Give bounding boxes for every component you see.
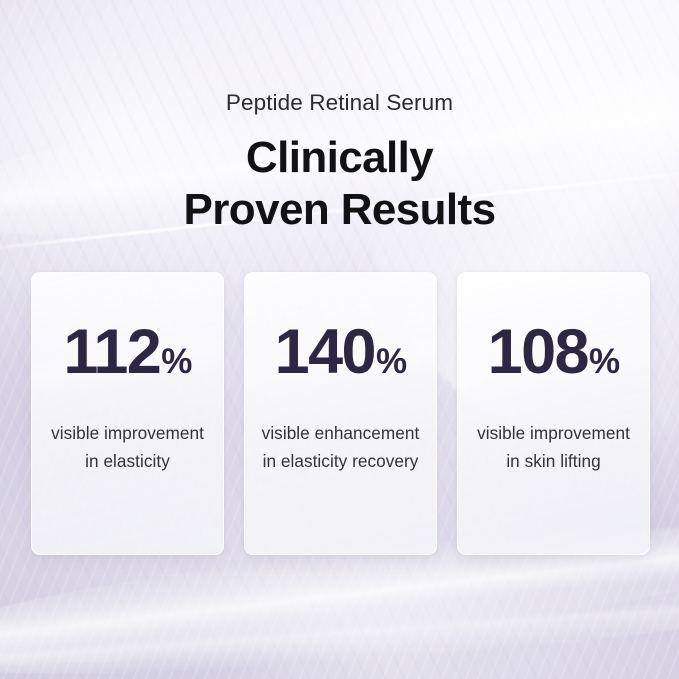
stat-description: visible enhancement in elasticity recove… <box>245 419 436 475</box>
stat-percent-symbol: % <box>376 344 406 379</box>
stat-percent-symbol: % <box>589 344 619 379</box>
stat-card-skin-lifting: 108 % visible improvement in skin liftin… <box>457 272 650 555</box>
stat-figure: 140 % <box>275 321 407 387</box>
headline-line-2: Proven Results <box>0 184 679 236</box>
stat-percent-symbol: % <box>161 344 191 379</box>
cream-swoosh-lower-secondary <box>0 571 679 679</box>
stat-figure: 108 % <box>488 321 620 387</box>
stat-value: 140 <box>275 321 375 384</box>
page-title: Clinically Proven Results <box>0 132 679 237</box>
stat-value: 112 <box>63 321 160 384</box>
header-block: Peptide Retinal Serum Clinically Proven … <box>0 92 679 236</box>
stat-card-row: 112 % visible improvement in elasticity … <box>31 272 650 555</box>
stat-description: visible improvement in elasticity <box>32 419 223 475</box>
stat-figure: 112 % <box>63 321 191 387</box>
headline-line-1: Clinically <box>0 132 679 184</box>
stat-card-elasticity: 112 % visible improvement in elasticity <box>31 272 224 555</box>
infographic-canvas: Peptide Retinal Serum Clinically Proven … <box>0 0 679 679</box>
stat-description: visible improvement in skin lifting <box>458 419 649 475</box>
stat-value: 108 <box>488 321 588 384</box>
stat-card-elasticity-recovery: 140 % visible enhancement in elasticity … <box>244 272 437 555</box>
product-name-eyebrow: Peptide Retinal Serum <box>0 92 679 115</box>
